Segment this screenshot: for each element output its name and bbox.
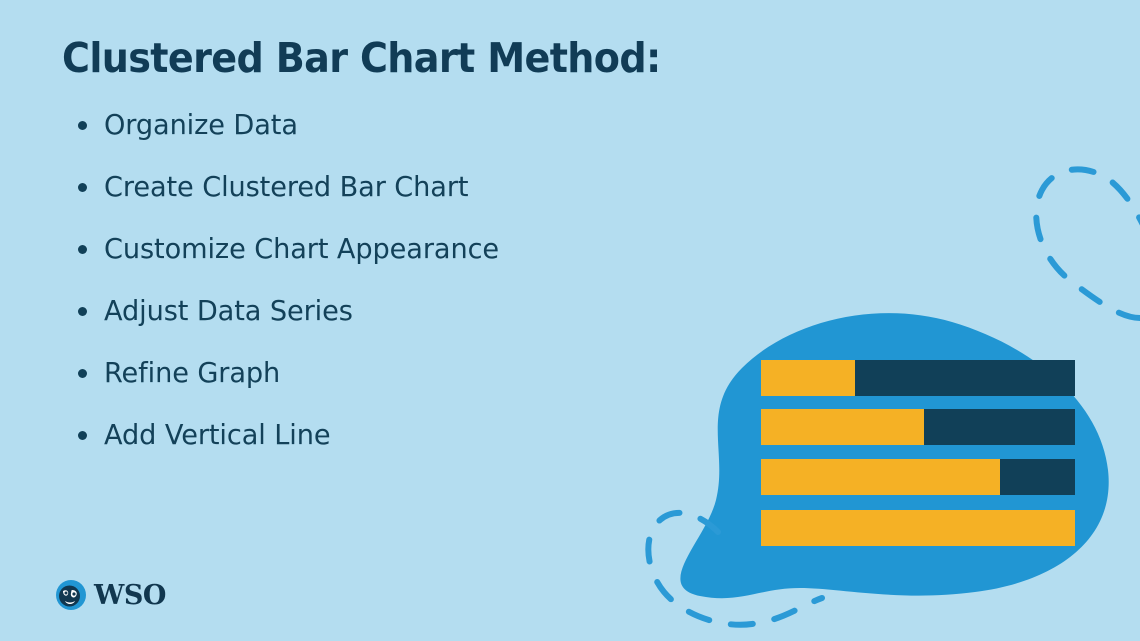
list-item-label: Refine Graph [104, 359, 280, 387]
list-item-label: Customize Chart Appearance [104, 235, 499, 263]
list-item-label: Adjust Data Series [104, 297, 353, 325]
bullet-dot-icon [78, 369, 87, 378]
list-item: Add Vertical Line [62, 418, 712, 452]
bar-segment-series-b [1000, 459, 1075, 495]
chart-bar-row [761, 459, 1075, 495]
list-item-label: Create Clustered Bar Chart [104, 173, 468, 201]
list-item: Refine Graph [62, 356, 712, 390]
bullet-dot-icon [78, 431, 87, 440]
page-title: Clustered Bar Chart Method: [62, 36, 667, 82]
list-item: Organize Data [62, 108, 712, 142]
bullet-dot-icon [78, 121, 87, 130]
chart-bar-row [761, 409, 1075, 445]
bullet-dot-icon [78, 183, 87, 192]
list-item: Adjust Data Series [62, 294, 712, 328]
chart-bar-row [761, 510, 1075, 546]
bar-segment-series-b [855, 360, 1075, 396]
slide-canvas: Clustered Bar Chart Method: Organize Dat… [0, 0, 1140, 641]
bar-segment-series-a [761, 459, 1000, 495]
bar-segment-series-b [924, 409, 1075, 445]
bullet-list: Organize Data Create Clustered Bar Chart… [62, 108, 712, 452]
globe-icon [55, 579, 87, 611]
list-item: Customize Chart Appearance [62, 232, 712, 266]
bar-segment-series-a [761, 510, 1075, 546]
bullet-dot-icon [78, 307, 87, 316]
logo: WSO [55, 579, 166, 611]
list-item: Create Clustered Bar Chart [62, 170, 712, 204]
list-item-label: Add Vertical Line [104, 421, 330, 449]
logo-text: WSO [94, 582, 166, 609]
bar-segment-series-a [761, 360, 855, 396]
bar-segment-series-a [761, 409, 924, 445]
bullet-dot-icon [78, 245, 87, 254]
chart-bar-row [761, 360, 1075, 396]
content-column: Clustered Bar Chart Method: Organize Dat… [62, 36, 712, 480]
list-item-label: Organize Data [104, 111, 298, 139]
